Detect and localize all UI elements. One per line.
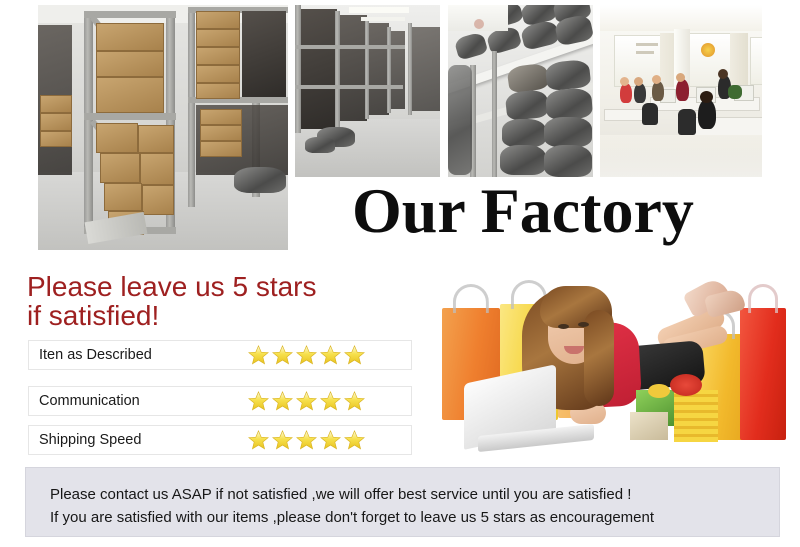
star-icon[interactable] — [319, 344, 342, 366]
leave-stars-line-2: if satisfied! — [27, 301, 357, 330]
leave-stars-heading: Please leave us 5 stars if satisfied! — [27, 272, 357, 330]
star-icon[interactable] — [295, 390, 318, 412]
star-icon[interactable] — [295, 429, 318, 451]
rating-label: Shipping Speed — [39, 432, 141, 448]
star-icon[interactable] — [319, 429, 342, 451]
banner-line-1: Please contact us ASAP if not satisfied … — [50, 486, 631, 503]
star-icon[interactable] — [247, 429, 270, 451]
page-title: Our Factory — [352, 180, 732, 242]
contact-banner: Please contact us ASAP if not satisfied … — [25, 467, 780, 537]
banner-line-2: If you are satisfied with our items ,ple… — [50, 509, 654, 526]
rating-row-communication[interactable]: Communication — [28, 386, 412, 416]
gift-box-yellow — [674, 390, 718, 442]
star-icon[interactable] — [343, 429, 366, 451]
star-icon[interactable] — [271, 344, 294, 366]
star-icon[interactable] — [271, 390, 294, 412]
shopper-image — [418, 262, 790, 467]
rating-label: Communication — [39, 393, 140, 409]
photo-warehouse-carton-racks — [38, 5, 288, 250]
photo-packed-goods-shelf — [448, 5, 593, 177]
rating-stars[interactable] — [247, 344, 366, 366]
star-icon[interactable] — [247, 344, 270, 366]
photo-warehouse-aisle — [295, 5, 440, 177]
shopping-bag-red — [740, 308, 786, 440]
rating-row-shipping-speed[interactable]: Shipping Speed — [28, 425, 412, 455]
gift-ribbon — [648, 384, 670, 398]
star-icon[interactable] — [343, 390, 366, 412]
leave-stars-line-1: Please leave us 5 stars — [27, 272, 357, 301]
rating-stars[interactable] — [247, 390, 366, 412]
star-icon[interactable] — [343, 344, 366, 366]
gift-bow-red — [670, 374, 702, 396]
photo-office-workers — [600, 5, 762, 177]
promo-banner-page: Our Factory Please leave us 5 stars if s… — [0, 0, 800, 547]
star-icon[interactable] — [319, 390, 342, 412]
eye — [558, 324, 569, 329]
rating-stars[interactable] — [247, 429, 366, 451]
star-icon[interactable] — [271, 429, 294, 451]
eye — [578, 322, 589, 327]
rating-label: Iten as Described — [39, 347, 152, 363]
star-icon[interactable] — [295, 344, 318, 366]
star-icon[interactable] — [247, 390, 270, 412]
rating-row-item-as-described[interactable]: Iten as Described — [28, 340, 412, 370]
gift-box-cream — [630, 412, 668, 440]
